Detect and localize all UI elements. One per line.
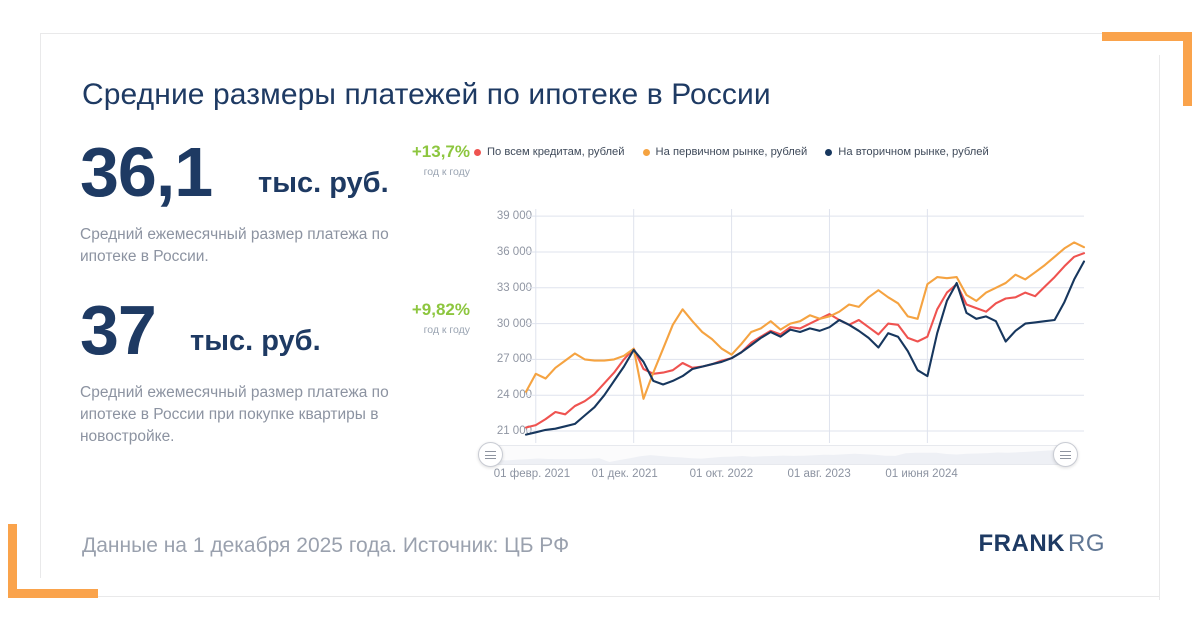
chart-svg xyxy=(468,201,1088,451)
corner-bracket-top-right xyxy=(1102,32,1192,106)
legend-label: По всем кредитам, рублей xyxy=(487,146,625,158)
stat-delta-label: год к году xyxy=(424,324,470,336)
series-line-0 xyxy=(526,253,1084,427)
legend-dot-icon xyxy=(825,149,832,156)
logo-primary: FRANK xyxy=(979,530,1066,557)
chart-legend: По всем кредитам, рублейНа первичном рын… xyxy=(474,146,989,158)
legend-label: На первичном рынке, рублей xyxy=(656,146,808,158)
legend-item-1[interactable]: На первичном рынке, рублей xyxy=(643,146,808,158)
card-edge-left xyxy=(40,33,41,578)
series-line-1 xyxy=(526,242,1084,398)
infographic-root: Средние размеры платежей по ипотеке в Ро… xyxy=(0,0,1200,630)
stat-block-secondary: 37 тыс. руб. +9,82% год к году Средний е… xyxy=(80,300,470,448)
range-slider-track[interactable] xyxy=(486,445,1070,465)
legend-item-0[interactable]: По всем кредитам, рублей xyxy=(474,146,625,158)
chart-plot-area xyxy=(468,201,1088,451)
stat-delta-label: год к году xyxy=(424,166,470,178)
range-slider-preview xyxy=(487,446,1069,464)
source-note: Данные на 1 декабря 2025 года. Источник:… xyxy=(82,534,569,558)
legend-dot-icon xyxy=(643,149,650,156)
line-chart: По всем кредитам, рублейНа первичном рын… xyxy=(468,146,1088,496)
stat-description: Средний ежемесячный размер платежа по ип… xyxy=(80,224,440,268)
chart-x-axis: 01 февр. 202101 дек. 202101 окт. 202201 … xyxy=(468,468,1088,488)
range-right-handle[interactable] xyxy=(1053,442,1078,467)
stat-block-primary: 36,1 тыс. руб. +13,7% год к году Средний… xyxy=(80,142,470,268)
stat-row: 37 тыс. руб. +9,82% год к году xyxy=(80,300,470,372)
legend-item-2[interactable]: На вторичном рынке, рублей xyxy=(825,146,988,158)
range-left-handle[interactable] xyxy=(478,442,503,467)
card-edge-top xyxy=(40,33,1110,34)
x-axis-tick-label: 01 авг. 2023 xyxy=(787,468,850,480)
stat-value: 36,1 xyxy=(80,136,212,208)
card-edge-bottom xyxy=(95,596,1160,597)
x-axis-tick-label: 01 дек. 2021 xyxy=(592,468,658,480)
card-edge-right xyxy=(1159,55,1160,600)
stat-delta-value: +9,82% xyxy=(412,300,470,319)
stat-delta-value: +13,7% xyxy=(412,142,470,161)
legend-label: На вторичном рынке, рублей xyxy=(838,146,988,158)
x-axis-tick-label: 01 окт. 2022 xyxy=(690,468,754,480)
logo-secondary: RG xyxy=(1068,530,1105,557)
stat-unit: тыс. руб. xyxy=(190,324,321,358)
x-axis-tick-label: 01 июня 2024 xyxy=(885,468,957,480)
stat-value: 37 xyxy=(80,294,156,366)
x-axis-tick-label: 01 февр. 2021 xyxy=(494,468,570,480)
page-title: Средние размеры платежей по ипотеке в Ро… xyxy=(82,78,771,112)
stat-row: 36,1 тыс. руб. +13,7% год к году xyxy=(80,142,470,214)
stat-delta: +9,82% год к году xyxy=(350,300,470,338)
chart-range-slider[interactable] xyxy=(478,442,1078,468)
stat-description: Средний ежемесячный размер платежа по ип… xyxy=(80,382,440,448)
brand-logo: FRANKRG xyxy=(979,530,1106,558)
stat-delta: +13,7% год к году xyxy=(350,142,470,180)
legend-dot-icon xyxy=(474,149,481,156)
